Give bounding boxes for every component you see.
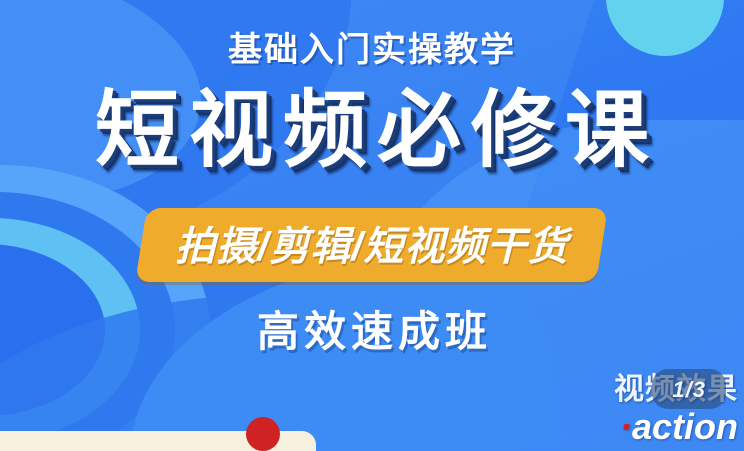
- eyebrow-text: 基础入门实操教学: [0, 22, 744, 71]
- highlight-banner: 拍摄/剪辑/短视频干货: [0, 208, 744, 282]
- page-indicator-label: 1/3: [672, 379, 706, 401]
- course-poster: 基础入门实操教学 短视频必修课 拍摄/剪辑/短视频干货 高效速成班 视频效果 1…: [0, 0, 744, 451]
- page-title: 短视频必修课: [0, 88, 744, 172]
- subtitle-text: 高效速成班: [0, 298, 744, 359]
- banner-shape: 拍摄/剪辑/短视频干货: [136, 208, 609, 282]
- watermark-cn-text-row: 视频效果 1/3: [614, 375, 738, 405]
- watermark: 视频效果 1/3 ·action: [614, 375, 738, 445]
- banner-label: 拍摄/剪辑/短视频干货: [176, 214, 569, 272]
- watermark-brand-label: action: [632, 406, 738, 447]
- watermark-brand: ·action: [614, 409, 738, 445]
- watermark-red-dot: ·: [620, 406, 632, 447]
- red-circle-decoration: [246, 417, 280, 451]
